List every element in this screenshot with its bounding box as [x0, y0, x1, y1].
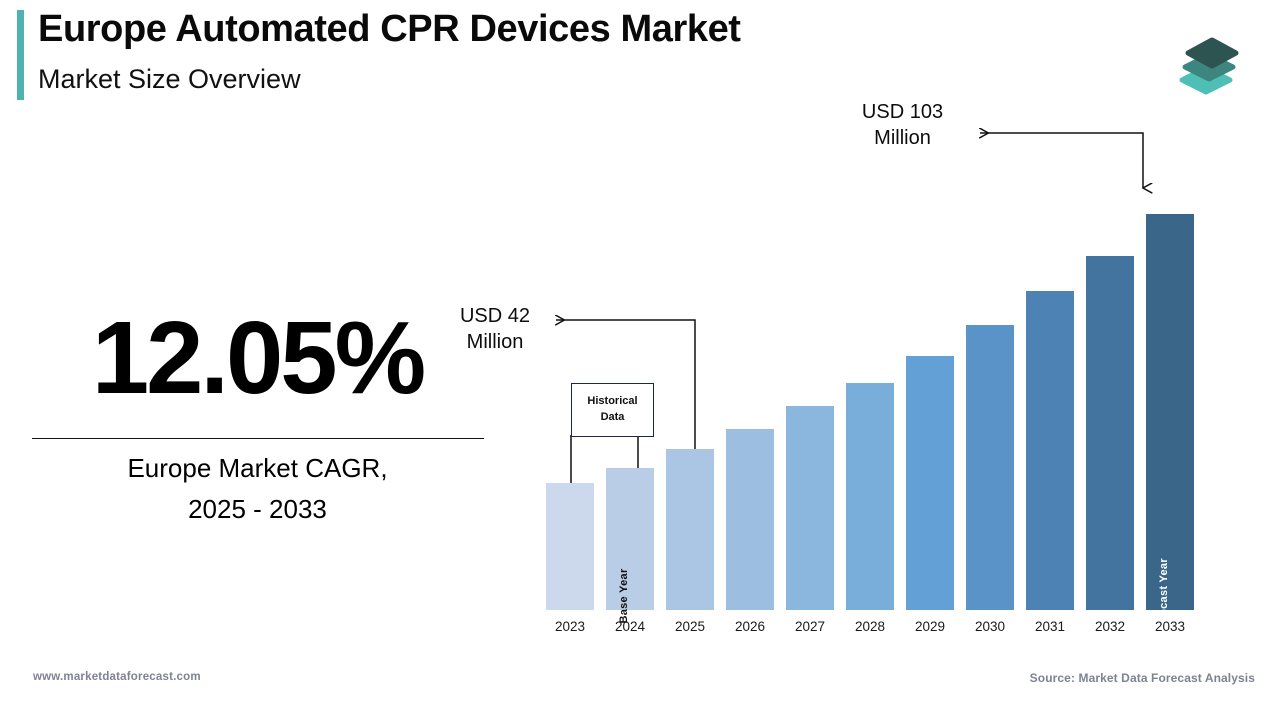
- x-tick-2026: 2026: [726, 619, 774, 634]
- bar-2030[interactable]: [966, 325, 1014, 610]
- x-tick-2023: 2023: [546, 619, 594, 634]
- x-tick-2029: 2029: [906, 619, 954, 634]
- bar-2028[interactable]: [846, 383, 894, 610]
- callout-base-line-1: USD 42: [440, 303, 550, 329]
- bar-column-2031[interactable]: [1026, 194, 1074, 610]
- bar-column-2026[interactable]: [726, 194, 774, 610]
- callout-base-line-2: Million: [440, 329, 550, 355]
- x-tick-2027: 2027: [786, 619, 834, 634]
- x-tick-2032: 2032: [1086, 619, 1134, 634]
- callout-label-forecast-value: USD 103 Million: [845, 99, 960, 151]
- callout-forecast-line-2: Million: [845, 125, 960, 151]
- header-accent-bar: [17, 10, 24, 100]
- logo-svg: [1168, 22, 1248, 102]
- bar-2026[interactable]: [726, 429, 774, 610]
- bar-2029[interactable]: [906, 356, 954, 610]
- x-tick-2033: 2033: [1146, 619, 1194, 634]
- x-tick-2028: 2028: [846, 619, 894, 634]
- bar-2033[interactable]: Forecast Year: [1146, 214, 1194, 610]
- page-title: Europe Automated CPR Devices Market: [38, 8, 741, 51]
- page-subtitle: Market Size Overview: [38, 64, 301, 95]
- bar-2024[interactable]: Base Year: [606, 468, 654, 610]
- bar-2023[interactable]: [546, 483, 594, 610]
- connector-forecast-2033: [980, 133, 1143, 188]
- cagr-caption: Europe Market CAGR, 2025 - 2033: [30, 448, 485, 529]
- cagr-divider: [32, 438, 484, 439]
- footer-source: Source: Market Data Forecast Analysis: [1030, 671, 1255, 685]
- x-tick-2025: 2025: [666, 619, 714, 634]
- bar-column-2032[interactable]: [1086, 194, 1134, 610]
- bar-column-2028[interactable]: [846, 194, 894, 610]
- bar-column-2033[interactable]: Forecast Year: [1146, 194, 1194, 610]
- x-tick-2024: 2024: [606, 619, 654, 634]
- bar-column-2029[interactable]: [906, 194, 954, 610]
- bar-column-2024[interactable]: Base Year: [606, 194, 654, 610]
- callout-label-base-value: USD 42 Million: [440, 303, 550, 355]
- bar-2025[interactable]: [666, 449, 714, 610]
- cagr-caption-line-2: 2025 - 2033: [30, 489, 485, 530]
- footer-website: www.marketdataforecast.com: [33, 671, 201, 683]
- bar-column-2025[interactable]: [666, 194, 714, 610]
- bar-2032[interactable]: [1086, 256, 1134, 610]
- base-year-label: Base Year: [618, 568, 630, 623]
- x-tick-2031: 2031: [1026, 619, 1074, 634]
- bar-column-2023[interactable]: [546, 194, 594, 610]
- stacked-diamonds-logo: [1168, 22, 1248, 102]
- x-tick-2030: 2030: [966, 619, 1014, 634]
- cagr-value: 12.05%: [30, 306, 485, 409]
- bar-chart: Base YearForecast Year: [546, 190, 1166, 610]
- x-axis-labels: 2023202420252026202720282029203020312032…: [546, 619, 1166, 643]
- callout-forecast-line-1: USD 103: [845, 99, 960, 125]
- bar-2031[interactable]: [1026, 291, 1074, 610]
- bar-2027[interactable]: [786, 406, 834, 610]
- bar-column-2030[interactable]: [966, 194, 1014, 610]
- cagr-caption-line-1: Europe Market CAGR,: [30, 448, 485, 489]
- bar-column-2027[interactable]: [786, 194, 834, 610]
